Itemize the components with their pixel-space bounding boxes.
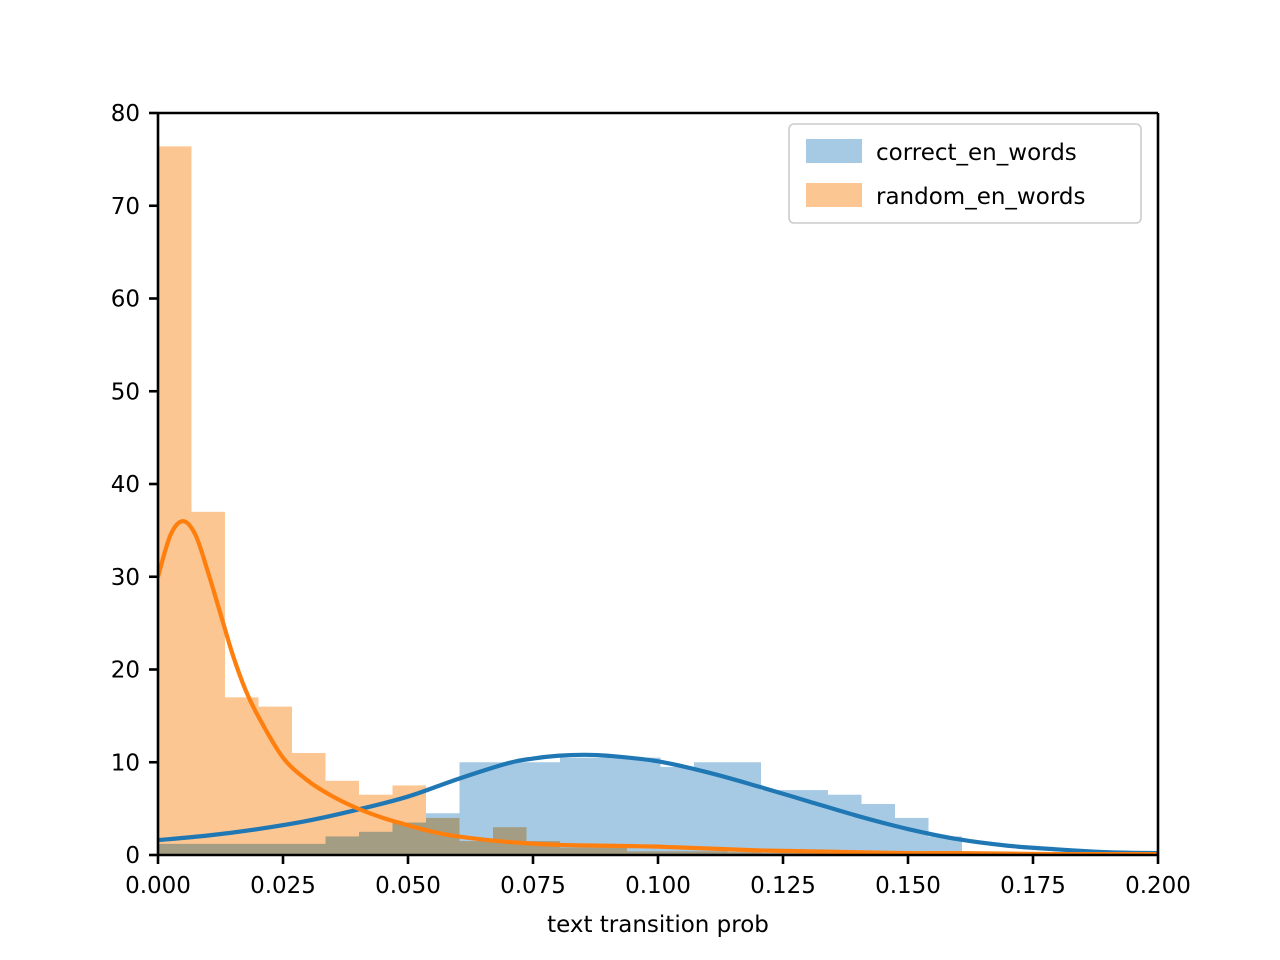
histogram-bar xyxy=(292,753,326,855)
x-axis-label: text transition prob xyxy=(547,912,769,938)
histogram-bar xyxy=(527,762,561,855)
legend-label-correct-en-words: correct_en_words xyxy=(876,140,1077,166)
histogram-bar xyxy=(292,844,326,855)
x-tick-label: 0.200 xyxy=(1125,873,1191,899)
histogram-bar xyxy=(661,767,695,855)
y-tick-label: 30 xyxy=(111,565,140,591)
histogram-figure: 0.0000.0250.0500.0750.1000.1250.1500.175… xyxy=(0,0,1280,960)
y-tick-label: 0 xyxy=(125,843,140,869)
histogram-bar xyxy=(326,836,360,855)
histogram-bar xyxy=(895,818,929,855)
y-tick-label: 70 xyxy=(111,194,140,220)
histogram-bar xyxy=(862,804,896,855)
y-tick-label: 40 xyxy=(111,472,140,498)
histogram-bar xyxy=(828,795,862,855)
histogram-bar xyxy=(158,844,192,855)
x-tick-label: 0.125 xyxy=(750,873,816,899)
histogram-bar xyxy=(728,762,762,855)
y-tick-label: 60 xyxy=(111,287,140,313)
legend-swatch-correct-en-words xyxy=(806,139,862,163)
plot-area xyxy=(158,113,1158,855)
histogram-bar xyxy=(627,758,661,855)
x-tick-label: 0.025 xyxy=(250,873,316,899)
legend-label-random-en-words: random_en_words xyxy=(876,184,1085,210)
histogram-bar xyxy=(225,844,259,855)
x-tick-label: 0.000 xyxy=(125,873,191,899)
x-tick-label: 0.175 xyxy=(1000,873,1066,899)
y-tick-label: 80 xyxy=(111,101,140,127)
histogram-bar xyxy=(192,844,226,855)
histogram-bar xyxy=(594,758,628,855)
y-tick-label: 20 xyxy=(111,658,140,684)
histogram-bar xyxy=(158,146,192,855)
y-tick-label: 50 xyxy=(111,379,140,405)
legend: correct_en_words random_en_words xyxy=(789,124,1141,223)
histogram-bar xyxy=(761,790,795,855)
histogram-bar xyxy=(259,844,293,855)
histogram-bar xyxy=(192,512,226,855)
x-tick-label: 0.050 xyxy=(375,873,441,899)
histogram-bar xyxy=(359,832,393,855)
histogram-bar xyxy=(560,758,594,855)
x-tick-label: 0.075 xyxy=(500,873,566,899)
legend-swatch-random-en-words xyxy=(806,183,862,207)
x-tick-label: 0.150 xyxy=(875,873,941,899)
x-tick-label: 0.100 xyxy=(625,873,691,899)
y-tick-label: 10 xyxy=(111,750,140,776)
